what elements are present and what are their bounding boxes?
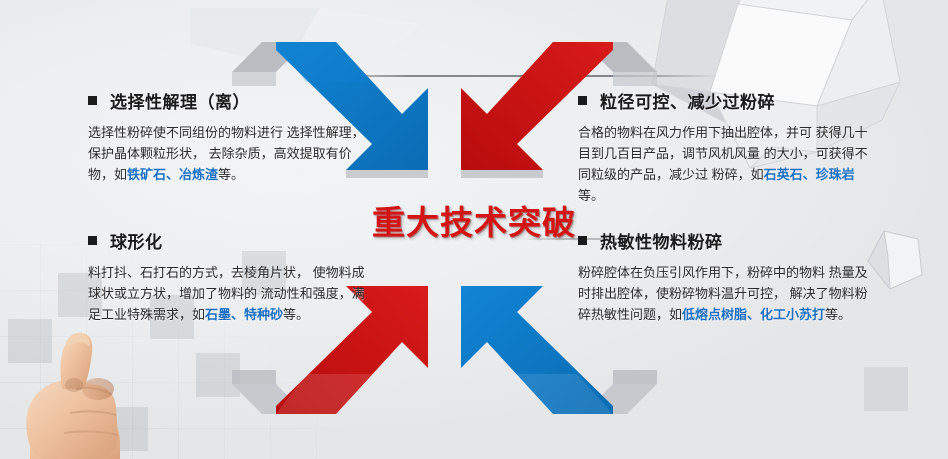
body-tail: 等。: [825, 307, 851, 322]
feature-block-particle-size-control: 粒径可控、减少过粉碎 合格的物料在风力作用下抽出腔体，并可 获得几十目到几百目产…: [578, 88, 878, 206]
block-heading-text: 选择性解理（离）: [110, 88, 250, 113]
body-tail: 等。: [283, 307, 309, 322]
body-line: 粉碎，如: [712, 167, 764, 182]
body-highlight: 石墨、特种砂: [205, 307, 283, 322]
slide-canvas: 重大技术突破 选择性解理（离） 选择性粉碎使不同组份的物料进行 选择性解理，保护…: [0, 0, 948, 459]
square-bullet-icon: [578, 96, 587, 105]
body-line: 合格的物料在风力作用下抽出腔体，并可: [578, 125, 812, 140]
block-body: 粉碎腔体在负压引风作用下，粉碎中的物料 热量及时排出腔体，使粉碎物料温升可控， …: [578, 262, 878, 325]
body-line: 料打抖、石打石的方式，去棱角片状，: [88, 265, 309, 280]
body-tail: 等。: [218, 167, 244, 182]
block-heading: 选择性解理（离）: [88, 88, 370, 113]
page-title: 重大技术突破: [372, 196, 576, 244]
block-body: 合格的物料在风力作用下抽出腔体，并可 获得几十目到几百目产品，调节风机风量 的大…: [578, 122, 878, 206]
grid-block-bottom-right: [864, 367, 908, 411]
thumbs-up-icon: [2, 327, 154, 459]
body-line: 粉碎腔体在负压引风作用下，粉碎中的物料: [578, 265, 825, 280]
feature-block-heat-sensitive-grinding: 热敏性物料粉碎 粉碎腔体在负压引风作用下，粉碎中的物料 热量及时排出腔体，使粉碎…: [578, 228, 878, 325]
block-heading-text: 粒径可控、减少过粉碎: [600, 88, 775, 113]
body-highlight: 石英石、珍珠岩: [764, 167, 855, 182]
feature-block-selective-liberation: 选择性解理（离） 选择性粉碎使不同组份的物料进行 选择性解理，保护晶体颗粒形状，…: [88, 88, 370, 185]
body-line: 选择性粉碎使不同组份的物料进行: [88, 125, 283, 140]
block-body: 料打抖、石打石的方式，去棱角片状， 使物料成球状或立方状，增加了物料的 流动性和…: [88, 262, 370, 325]
square-bullet-icon: [578, 236, 587, 245]
block-heading: 热敏性物料粉碎: [578, 228, 878, 253]
feature-block-spheroidization: 球形化 料打抖、石打石的方式，去棱角片状， 使物料成球状或立方状，增加了物料的 …: [88, 228, 370, 325]
block-body: 选择性粉碎使不同组份的物料进行 选择性解理，保护晶体颗粒形状， 去除杂质，高效提…: [88, 122, 370, 185]
body-highlight: 低熔点树脂、化工小苏打: [682, 307, 825, 322]
block-heading-text: 热敏性物料粉碎: [600, 228, 723, 253]
square-bullet-icon: [88, 236, 97, 245]
square-bullet-icon: [88, 96, 97, 105]
block-heading-text: 球形化: [110, 228, 163, 253]
block-heading: 球形化: [88, 228, 370, 253]
block-heading: 粒径可控、减少过粉碎: [578, 88, 878, 113]
body-tail: 等。: [578, 188, 604, 203]
body-highlight: 铁矿石、冶炼渣: [127, 167, 218, 182]
